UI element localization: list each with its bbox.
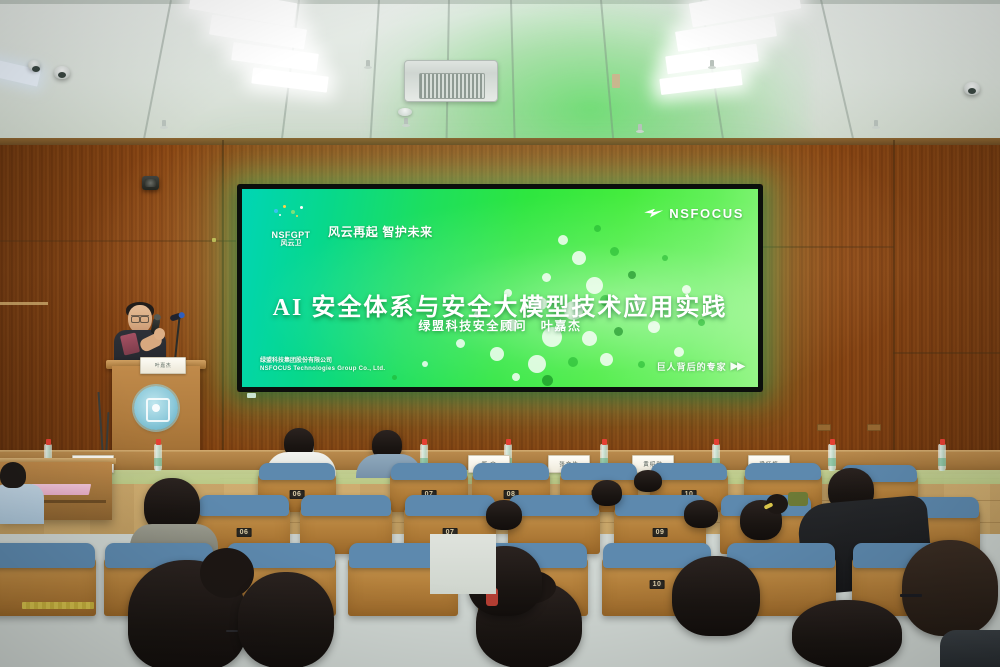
wall-top-trim [0,138,1000,145]
slide-tagline: 风云再起 智护未来 [328,223,433,240]
bubble-decoration [512,373,520,381]
seat-cushion [561,463,637,480]
nsfocus-wordmark: NSFOCUS [669,206,744,221]
ceiling [0,0,1000,142]
bubble-decoration [558,235,568,245]
slide-subtitle: 绿盟科技安全顾问 叶嘉杰 [242,317,758,334]
seat-cushion [301,495,391,515]
audience-head [592,480,622,506]
water-bottle [828,444,836,471]
ceiling-fixture [612,74,620,88]
wall-vent [817,424,831,431]
seat-number: 09 [653,528,668,537]
bubble-decoration [662,255,668,261]
eyeglasses [900,594,922,597]
wall-vent [867,424,881,431]
audience-head [684,500,718,528]
bubble-decoration [638,361,645,368]
bubble-decoration [610,247,619,256]
nsfgpt-wordmark: NSFGPT [260,231,322,240]
screen-ir-receiver [247,393,256,398]
sprinkler-head [404,118,408,125]
bubble-decoration [422,361,428,367]
sprinkler-head [874,120,878,127]
bubble-decoration [600,353,613,366]
bubble-decoration [528,355,546,373]
nsfocus-bird-icon [644,208,665,220]
eyeglasses [226,630,238,632]
sprinkler-head [162,120,166,127]
seat-cushion [391,463,467,480]
audience-head [238,572,334,667]
seat-cushion [0,543,95,568]
seat-cushion [745,463,821,480]
nsfocus-brand-logo: NSFOCUS [644,206,744,221]
seat-cushion [259,463,335,480]
ceiling-light-panel [251,67,328,92]
slogan-text: 巨人背后的专家 [657,360,727,373]
conference-hall-photo: NSFGPT 风云卫 风云再起 智护未来 NSFOCUS AI 安全体系与安全大… [0,0,1000,667]
wall-panel-seam [893,352,1000,354]
bubble-decoration [542,375,553,386]
bubble-decoration [392,375,397,380]
podium-name-card-label: 叶嘉杰 [155,362,172,369]
security-camera-icon [54,66,70,79]
bubble-decoration [568,357,578,367]
air-conditioner-vent [404,60,498,102]
projection-screen: NSFGPT 风云卫 风云再起 智护未来 NSFOCUS AI 安全体系与安全大… [237,184,763,392]
wall-marker [212,238,216,242]
slide-surface: NSFGPT 风云卫 风云再起 智护未来 NSFOCUS AI 安全体系与安全大… [242,189,758,387]
ceiling-seam [820,0,856,142]
wall-trim-rail [0,302,48,305]
bubble-decoration [456,339,465,348]
wall-panel-seam [893,140,895,468]
seat-cushion [473,463,549,480]
slogan-arrows-icon: ▶▶ [731,361,744,372]
bubble-decoration [594,225,601,232]
bubble-decoration [490,347,504,361]
speaker-glasses [131,315,149,321]
center-aisle-floor [430,534,496,594]
audience-head [792,600,902,667]
ceiling-light-panel [231,42,319,72]
security-camera-icon [964,82,980,95]
wall-panel-seam [0,240,236,242]
company-name-en: NSFOCUS Technologies Group Co., Ltd. [260,366,385,374]
vent-grille [419,73,485,99]
water-bottle [154,444,162,471]
water-bottle [938,444,946,471]
podium-name-card: 叶嘉杰 [140,357,186,374]
seat-number: 06 [237,528,252,537]
sprinkler-head [366,60,370,67]
seat-number: 10 [650,580,665,589]
tactile-floor-strip [22,602,94,609]
seat-cushion [651,463,727,480]
smoke-detector [398,108,412,116]
company-name-cn: 绿盟科技集团股份有限公司 [260,358,385,366]
nsfgpt-subtitle: 风云卫 [260,240,322,247]
audience-head [486,500,522,530]
security-camera-icon [28,60,40,70]
seated-attendee-body [0,484,44,524]
nsfgpt-product-logo: NSFGPT 风云卫 [260,217,322,247]
bubble-decoration [628,271,636,279]
wall-panel-seam [760,246,894,248]
university-crest-icon [134,386,178,430]
sprinkler-head [638,124,642,131]
audience-head [902,540,998,636]
bubble-decoration [572,251,586,265]
seated-attendee-head [0,462,26,488]
speaker-hand [154,328,165,340]
wall-panel-seam [222,140,224,468]
slide-company-footer: 绿盟科技集团股份有限公司 NSFOCUS Technologies Group … [260,358,385,373]
seat-cushion [509,495,599,515]
bubble-decoration [674,347,684,357]
seat-cushion [405,495,495,515]
network-nodes-icon [270,203,310,219]
sprinkler-head [710,60,714,67]
ceiling-seam [141,0,172,142]
slide-slogan: 巨人背后的专家 ▶▶ [657,360,744,373]
audience-accessory [788,492,808,506]
wall-loudspeaker [142,176,159,190]
audience-head [634,470,662,492]
audience-head [672,556,760,636]
bubble-decoration [542,273,551,282]
audience-shoulders [940,630,1000,667]
seat-cushion [199,495,289,515]
